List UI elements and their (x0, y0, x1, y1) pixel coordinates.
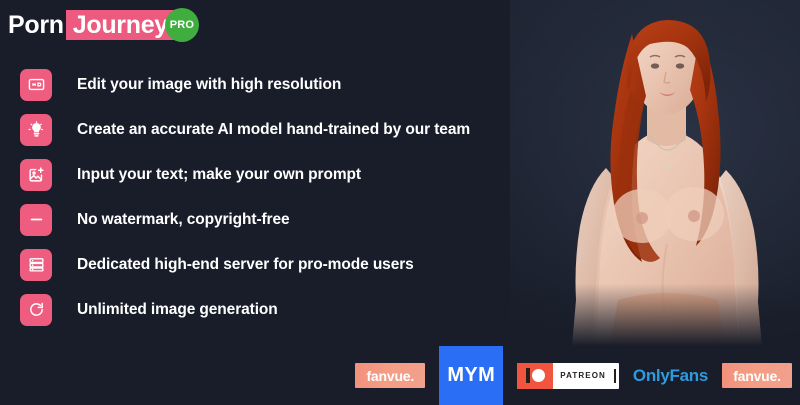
lightbulb-icon (20, 114, 52, 146)
feature-label: Edit your image with high resolution (77, 76, 341, 94)
fanvue-badge-left[interactable]: fanvue. (355, 363, 425, 388)
feature-item-ai-model: Create an accurate AI model hand-trained… (20, 107, 525, 152)
feature-list: Edit your image with high resolution Cre… (20, 62, 525, 332)
pro-badge: PRO (165, 8, 199, 42)
server-stack-icon (20, 249, 52, 281)
onlyfans-badge[interactable]: OnlyFans (633, 366, 708, 386)
patreon-edge-rule (614, 369, 616, 383)
patreon-logo-mark (517, 363, 553, 389)
promo-banner: Porn Journey PRO Edit your image with hi… (0, 0, 800, 405)
refresh-icon (20, 294, 52, 326)
feature-item-unlimited-generation: Unlimited image generation (20, 287, 525, 332)
feature-item-high-resolution: Edit your image with high resolution (20, 62, 525, 107)
mym-badge-label: MYM (447, 364, 495, 387)
pro-badge-label: PRO (170, 19, 194, 31)
add-image-icon (20, 159, 52, 191)
feature-item-dedicated-server: Dedicated high-end server for pro-mode u… (20, 242, 525, 287)
fanvue-badge-label: fanvue. (366, 368, 414, 384)
feature-label: No watermark, copyright-free (77, 211, 290, 229)
brand-word-journey-highlight: Journey (66, 10, 176, 40)
fanvue-badge-label: fanvue. (733, 368, 781, 384)
partner-badge-strip: fanvue. MYM PATREON OnlyFans fanvue. (0, 346, 800, 405)
hero-figure-silhouette (510, 0, 800, 346)
mym-badge[interactable]: MYM (439, 346, 503, 405)
patreon-bar-glyph (526, 368, 530, 383)
feature-label: Create an accurate AI model hand-trained… (77, 121, 470, 139)
minus-icon (20, 204, 52, 236)
feature-item-no-watermark: No watermark, copyright-free (20, 197, 525, 242)
hero-vignette (510, 0, 800, 346)
feature-item-own-prompt: Input your text; make your own prompt (20, 152, 525, 197)
feature-label: Input your text; make your own prompt (77, 166, 361, 184)
brand-word-porn: Porn (8, 13, 66, 38)
patreon-badge-label: PATREON (560, 371, 606, 380)
hd-image-icon (20, 69, 52, 101)
feature-label: Dedicated high-end server for pro-mode u… (77, 256, 414, 274)
fanvue-badge-right[interactable]: fanvue. (722, 363, 792, 388)
feature-label: Unlimited image generation (77, 301, 278, 319)
patreon-dot-glyph (532, 369, 545, 382)
patreon-wordmark: PATREON (553, 363, 614, 389)
onlyfans-badge-label: OnlyFans (633, 366, 708, 386)
brand-word-journey: Journey (73, 13, 168, 38)
brand-logo[interactable]: Porn Journey PRO (8, 8, 199, 42)
hero-portrait-image (510, 0, 800, 346)
patreon-badge[interactable]: PATREON (517, 363, 619, 389)
